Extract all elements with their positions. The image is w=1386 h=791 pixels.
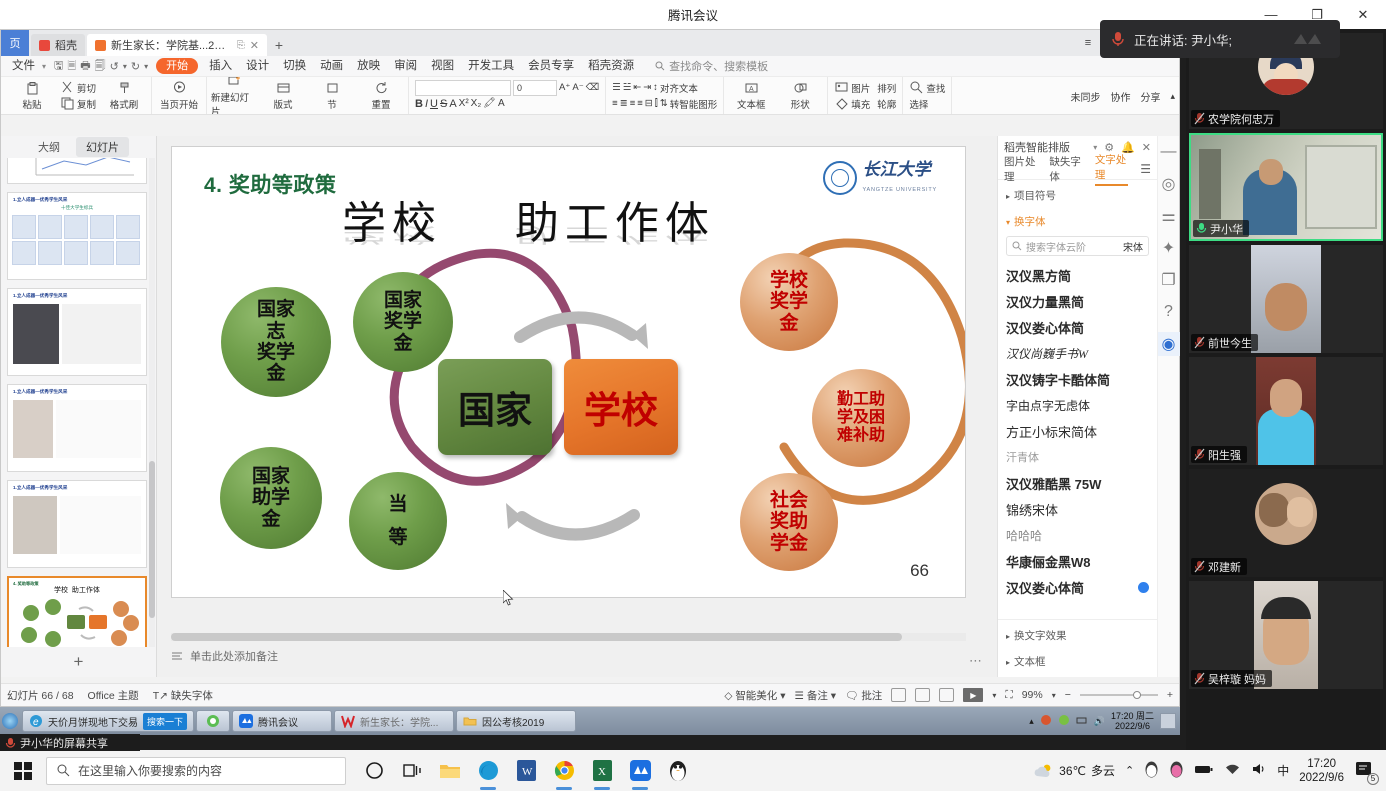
tray-expand-icon[interactable]: ⌃	[1125, 764, 1134, 777]
excel-icon[interactable]: X	[590, 759, 614, 783]
highlight-button[interactable]: 🖍	[483, 98, 496, 109]
quick-access-toolbar: 🖫 🗏 🖶 🗐 ↺ ▾ ↻ ▾	[50, 57, 152, 76]
participant-tile[interactable]: 前世今生	[1189, 245, 1383, 353]
participant-tile-active[interactable]: 尹小华	[1189, 133, 1383, 241]
qq-icon[interactable]	[666, 759, 690, 783]
arrange-label: 排列	[877, 81, 896, 95]
clock[interactable]: 17:20 2022/9/6	[1299, 757, 1344, 785]
node-national-scholarship[interactable]: 国家 奖学 金	[353, 272, 453, 372]
text-direction-button[interactable]: ⇅	[660, 98, 668, 109]
node-line: 难补助	[837, 427, 885, 445]
comments-toggle-button[interactable]: 🗨 批注	[845, 688, 882, 703]
svg-text:A: A	[749, 86, 754, 93]
missing-font-status[interactable]: T↗ 缺失字体	[153, 688, 213, 703]
font-row: 0 A⁺ A⁻ ⌫	[413, 80, 601, 95]
menu-design[interactable]: 设计	[239, 56, 276, 77]
align-center-button[interactable]: ≣	[620, 98, 628, 109]
zoom-slider[interactable]	[1080, 694, 1158, 696]
search-icon	[57, 764, 70, 777]
tab-slides[interactable]: 幻灯片	[76, 137, 129, 157]
slide-canvas[interactable]: 4. 奖助等政策 学校 助工作体 学校 助工作体 长江大学 YANGTZE UN…	[171, 146, 966, 598]
wps-tab-docer[interactable]: 稻壳	[31, 34, 85, 56]
text-effects-button[interactable]: A	[449, 98, 456, 110]
font-search-input[interactable]: 搜索字体云阶 宋体	[1006, 236, 1149, 256]
chrome-icon[interactable]	[552, 759, 576, 783]
reading-view-button[interactable]	[939, 688, 954, 702]
ribbon-right-tools: 未同步 协作 分享 ▴	[1070, 77, 1175, 115]
tencent-meeting-icon	[239, 714, 253, 728]
taskbar-item-label: 新生家长：学院...	[360, 714, 438, 729]
export-icon[interactable]: 🗐	[95, 57, 106, 76]
file-explorer-icon[interactable]	[438, 759, 462, 783]
font-family-input[interactable]	[415, 80, 511, 96]
font-item[interactable]: 汉仪娄心体简	[1006, 314, 1149, 340]
font-warning-icon: T↗	[153, 690, 171, 702]
section-text-effects[interactable]: ▸换文字效果	[998, 620, 1157, 646]
node-line: 学校	[770, 270, 808, 291]
ime-indicator[interactable]: 中	[1277, 762, 1289, 779]
more-options-icon[interactable]: ⋯	[969, 653, 983, 669]
font-search-placeholder: 搜索字体云阶	[1026, 239, 1123, 254]
tab-image-processing[interactable]: 图片处理	[1004, 154, 1037, 184]
menu-view[interactable]: 视图	[424, 56, 461, 77]
inner-clock[interactable]: 17:20 周二 2022/9/6	[1111, 711, 1154, 731]
menu-file[interactable]: 文件	[5, 56, 42, 77]
paste-label: 粘贴	[22, 97, 41, 111]
taskbar-item-wps[interactable]: 新生家长：学院...	[334, 710, 454, 732]
windows-search-placeholder: 在这里输入你要搜索的内容	[78, 762, 222, 779]
wps-tab-label: 稻壳	[55, 37, 77, 53]
reset-icon	[374, 81, 389, 96]
arrange-button[interactable]: 排列	[875, 80, 898, 95]
reset-button[interactable]: 重置	[358, 81, 404, 111]
font-name: 字由点字无虑体	[1006, 397, 1090, 414]
tray-security-icon[interactable]	[1040, 714, 1052, 728]
weather-icon	[1034, 763, 1054, 779]
font-item[interactable]: 汉仪尚巍手书W	[1006, 340, 1149, 366]
start-button[interactable]	[0, 750, 46, 791]
font-name: 汉仪黑方简	[1006, 266, 1071, 285]
font-item[interactable]: 汉仪娄心体简	[1006, 574, 1149, 600]
select-label: 选择	[909, 97, 928, 111]
outline-label: 轮廓	[877, 97, 896, 111]
share-banner-label: 尹小华的屏幕共享	[20, 735, 108, 751]
decrease-indent-button[interactable]: ⇤	[633, 82, 641, 93]
ribbon-group-slides: 新建幻灯片 版式 节 重置	[207, 77, 409, 115]
menu-slideshow[interactable]: 放映	[350, 56, 387, 77]
normal-view-button[interactable]	[891, 688, 906, 702]
slide-thumbnail-selected[interactable]: 4. 奖助等政策 学校 助工作体	[7, 576, 147, 647]
slide-thumbnail-panel: 大纲 幻灯片 1.立人成器—优秀学生风采 十佳大学生标兵	[1, 136, 157, 677]
line-spacing-button[interactable]: ↕	[653, 82, 658, 93]
section-label: 项目符号	[1014, 190, 1056, 202]
paste-button[interactable]: 粘贴	[9, 81, 55, 111]
font-item[interactable]: 汉仪力量黑简	[1006, 288, 1149, 314]
font-item[interactable]: 汉仪铸字卡酷体简	[1006, 366, 1149, 392]
align-left-button[interactable]: ≡	[612, 98, 618, 109]
windows-search-box[interactable]: 在这里输入你要搜索的内容	[46, 757, 346, 785]
node-social-scholarship[interactable]: 社会 奖助 学金	[740, 473, 838, 571]
cloud-sync-button[interactable]: 未同步	[1070, 89, 1100, 104]
thumb-title: 1.立人成器—优秀学生风采	[8, 481, 146, 491]
qq-tray-icon[interactable]	[1144, 761, 1159, 781]
undo-icon[interactable]: ↺	[110, 60, 119, 73]
bullet-list-button[interactable]: ☰	[612, 82, 621, 93]
save-icon[interactable]: 🖫	[54, 57, 63, 76]
node-line: 学金	[770, 533, 808, 554]
fit-to-window-icon[interactable]: ⛶	[1005, 689, 1012, 702]
folder-icon	[463, 714, 477, 728]
participant-video-rail: 农学院何忠万 尹小华 前世今生	[1186, 29, 1386, 750]
help-icon[interactable]: ?	[1158, 300, 1180, 324]
weather-widget[interactable]: 36℃ 多云	[1034, 762, 1115, 779]
slide-thumbnail[interactable]: 1.立人成器—优秀学生风采	[7, 288, 147, 376]
participant-tile[interactable]: 邓建新	[1189, 469, 1383, 577]
outline-button[interactable]: 轮廓	[875, 96, 898, 111]
clear-format-icon[interactable]: ⌫	[586, 82, 599, 93]
wps-home-button[interactable]: 页	[1, 30, 29, 56]
increase-font-icon[interactable]: A⁺	[559, 82, 570, 93]
font-item[interactable]: 哈哈哈	[1006, 522, 1149, 548]
section-text-box[interactable]: ▸文本框	[998, 646, 1157, 677]
wifi-icon[interactable]	[1224, 763, 1241, 779]
format-painter-button[interactable]: 格式刷	[101, 81, 147, 111]
underline-button[interactable]: U	[430, 98, 438, 110]
docer-panel-icon[interactable]: ◉	[1158, 332, 1180, 356]
align-right-button[interactable]: ≡	[630, 98, 636, 109]
search-icon	[1012, 241, 1022, 251]
taskbar-item-label: 腾讯会议	[258, 714, 298, 729]
battery-icon[interactable]	[1194, 763, 1214, 778]
menu-review[interactable]: 审阅	[387, 56, 424, 77]
node-line: 金	[266, 363, 285, 384]
taskbar-item-tencent-meeting[interactable]: 腾讯会议	[232, 710, 332, 732]
collaborate-button[interactable]: 协作	[1110, 89, 1130, 104]
section-label: 节	[327, 97, 337, 111]
layout-label: 版式	[274, 97, 293, 111]
fill-button[interactable]: 填充	[832, 96, 872, 111]
node-line: 当	[388, 494, 407, 515]
clock-time: 17:20	[1307, 758, 1336, 770]
wps-body: 大纲 幻灯片 1.立人成器—优秀学生风采 十佳大学生标兵	[1, 136, 1179, 677]
italic-button[interactable]: I	[425, 98, 428, 110]
wps-settings-icon[interactable]: ≡	[1075, 30, 1101, 56]
tab-missing-fonts[interactable]: 缺失字体	[1049, 154, 1082, 184]
menu-member[interactable]: 会员专享	[521, 56, 581, 77]
new-slide-icon	[227, 77, 242, 89]
font-name: 汉仪娄心体简	[1006, 578, 1084, 597]
menu-transition[interactable]: 切换	[276, 56, 313, 77]
font-item[interactable]: 华康俪金黑W8	[1006, 548, 1149, 574]
increase-indent-button[interactable]: ⇥	[643, 82, 651, 93]
reset-label: 重置	[372, 97, 391, 111]
picture-icon	[834, 80, 849, 95]
node-school-scholarship[interactable]: 学校 奖学 金	[740, 253, 838, 351]
font-name: 哈哈哈	[1006, 527, 1042, 544]
speaking-label: 正在讲话: 尹小华;	[1134, 30, 1292, 49]
adjust-icon[interactable]: ⚌	[1158, 204, 1180, 228]
wps-ribbon: 粘贴 剪切 复制 格式刷	[1, 77, 1179, 115]
zoom-out-button[interactable]: −	[1065, 689, 1071, 701]
slide-thumbnail[interactable]	[7, 158, 147, 184]
collapse-rail-icon[interactable]: —	[1158, 140, 1180, 164]
participant-name: 农学院何忠万	[1208, 111, 1274, 127]
tray-network-icon[interactable]	[1076, 714, 1088, 728]
clock-date: 2022/9/6	[1299, 772, 1344, 784]
command-search-label: 查找命令、搜索模板	[669, 58, 768, 74]
select-button[interactable]: 选择	[907, 96, 947, 111]
node-line: 学及困	[837, 409, 885, 427]
cut-button[interactable]: 剪切	[58, 80, 98, 95]
edge-icon[interactable]	[476, 759, 500, 783]
node-national-grant[interactable]: 国家 助学 金	[220, 447, 322, 549]
play-dropdown-icon[interactable]: ▾	[992, 691, 996, 700]
menu-animation[interactable]: 动画	[313, 56, 350, 77]
decrease-font-icon[interactable]: A⁻	[572, 82, 583, 93]
superscript-button[interactable]: X²	[459, 98, 469, 109]
participant-name: 邓建新	[1208, 559, 1241, 575]
wps-menu-bar: 文件 ▾ 🖫 🗏 🖶 🗐 ↺ ▾ ↻ ▾ 开始 插入 设计 切换 动画 放映 审…	[1, 56, 1179, 77]
system-tray: 36℃ 多云 ⌃ 中 17:20 2022/9/6 5	[1034, 757, 1386, 785]
qq-pink-tray-icon[interactable]	[1169, 761, 1184, 781]
paste-icon	[25, 81, 40, 96]
menu-home[interactable]: 开始	[156, 58, 198, 74]
slide-counter: 幻灯片 66 / 68	[7, 688, 74, 703]
ribbon-group-slideshow: 当页开始	[152, 77, 207, 115]
mic-muted-icon	[1194, 448, 1205, 461]
slide-horizontal-scrollbar[interactable]	[171, 633, 966, 641]
wps-tab-label: 新生家长：学院基...20220905	[111, 37, 231, 53]
presentation-icon	[95, 40, 106, 51]
cut-label: 剪切	[77, 81, 96, 95]
menu-developer[interactable]: 开发工具	[461, 56, 521, 77]
justify-button[interactable]: ≡	[637, 98, 643, 109]
participant-tile[interactable]: 阳生强	[1189, 357, 1383, 465]
thumb-title: 1.立人成器—优秀学生风采	[8, 385, 146, 395]
close-panel-icon[interactable]: ✕	[1142, 141, 1151, 154]
bold-button[interactable]: B	[415, 98, 423, 110]
slide-thumbnail[interactable]: 1.立人成器—优秀学生风采 十佳大学生标兵	[7, 192, 147, 280]
font-item[interactable]: 锦绣宋体	[1006, 496, 1149, 522]
center-box-national[interactable]: 国家	[438, 359, 552, 455]
magic-icon[interactable]: ✦	[1158, 236, 1180, 260]
notes-icon	[171, 651, 184, 662]
docer-panel-tabs: 图片处理 缺失字体 文字处理 ☰	[998, 158, 1157, 180]
add-slide-button[interactable]: +	[1, 647, 156, 677]
participant-name-badge: 邓建新	[1191, 558, 1247, 575]
center-box-school[interactable]: 学校	[564, 359, 678, 455]
section-bullets[interactable]: ▸项目符号	[998, 180, 1157, 206]
word-icon[interactable]: W	[514, 759, 538, 783]
tray-volume-icon[interactable]: 🔊	[1094, 716, 1105, 727]
section-change-font[interactable]: ▾换字体	[998, 206, 1157, 232]
ribbon-group-font: 0 A⁺ A⁻ ⌫ B I U S A X² X₂ 🖍 A	[409, 77, 606, 115]
pin-icon[interactable]: ⎘	[237, 40, 245, 51]
node-national-aspiration-scholarship[interactable]: 国家 志 奖学 金	[221, 287, 331, 397]
slide-thumbnail-list[interactable]: 1.立人成器—优秀学生风采 十佳大学生标兵	[1, 158, 156, 647]
tencent-meeting-icon[interactable]	[628, 759, 652, 783]
distribute-button[interactable]: ⊟	[645, 98, 653, 109]
play-circle-icon	[172, 81, 187, 96]
font-color-button[interactable]: A	[498, 98, 505, 109]
section-button[interactable]: 节	[309, 81, 355, 111]
node-work-study-aid[interactable]: 勤工助 学及困 难补助	[812, 369, 910, 467]
right-icon-rail: — ◎ ⚌ ✦ ❐ ? ◉	[1157, 136, 1179, 677]
current-font-value: 宋体	[1123, 239, 1143, 254]
shape-icon	[793, 81, 808, 96]
slide-thumbnail[interactable]: 1.立人成器—优秀学生风采	[7, 384, 147, 472]
menu-docer[interactable]: 稻壳资源	[581, 56, 641, 77]
picture-label: 图片	[851, 81, 870, 95]
wps-icon	[341, 714, 355, 728]
node-etc[interactable]: 当 等	[349, 472, 447, 570]
taskbar-icons: W X	[362, 759, 690, 783]
new-slide-button[interactable]: 新建幻灯片	[211, 77, 257, 115]
duplicate-icon[interactable]: ❐	[1158, 268, 1180, 292]
theme-name[interactable]: Office 主题	[88, 688, 139, 703]
start-orb-icon[interactable]	[2, 713, 18, 729]
menu-insert[interactable]: 插入	[202, 56, 239, 77]
copy-button[interactable]: 复制	[58, 96, 98, 111]
font-size-input[interactable]: 0	[513, 80, 557, 96]
command-search[interactable]: 查找命令、搜索模板	[655, 58, 768, 74]
node-line: 等	[388, 527, 407, 548]
font-name: 汉仪力量黑简	[1006, 292, 1084, 311]
columns-button[interactable]: ⫿	[655, 98, 658, 109]
picture-button[interactable]: 图片	[832, 80, 872, 95]
font-name: 汉仪铸字卡酷体简	[1006, 370, 1110, 389]
speaking-indicator: 正在讲话: 尹小华;	[1100, 20, 1340, 58]
zoom-dropdown-icon[interactable]: ▾	[1052, 691, 1056, 700]
node-line: 奖助	[770, 511, 808, 532]
font-item[interactable]: 字由点字无虑体	[1006, 392, 1149, 418]
font-name: 汉仪娄心体简	[1006, 318, 1084, 337]
notes-area[interactable]: 单击此处添加备注	[171, 645, 966, 667]
participant-name-badge: 前世今生	[1191, 334, 1258, 351]
weather-temp: 36℃	[1059, 764, 1086, 778]
thumb-title: 1.立人成器—优秀学生风采	[8, 289, 146, 299]
slide-edit-area: 4. 奖助等政策 学校 助工作体 学校 助工作体 长江大学 YANGTZE UN…	[157, 136, 997, 677]
mic-muted-icon	[1194, 336, 1205, 349]
slide-thumbnail[interactable]: 1.立人成器—优秀学生风采	[7, 480, 147, 568]
tray-update-icon[interactable]	[1058, 714, 1070, 728]
screen: 腾讯会议 — ❐ ✕ 正在讲话: 尹小华; 页 稻壳	[0, 0, 1386, 791]
slideshow-play-button[interactable]: ▶	[963, 688, 983, 702]
thumbnail-scrollbar[interactable]	[149, 158, 155, 647]
close-tab-icon[interactable]: ✕	[250, 39, 259, 52]
participant-name-badge: 尹小华	[1193, 220, 1249, 237]
inner-app-taskbar: e 天价月饼现地下交易 搜索一下 腾讯会议 新生家长：学院... 因公考核201…	[0, 707, 1180, 735]
fill-icon	[834, 96, 849, 111]
clock-date: 2022/9/6	[1115, 721, 1150, 731]
numbered-list-button[interactable]: ☱	[623, 82, 632, 93]
print-icon[interactable]: 🖶	[80, 57, 90, 76]
design-ideas-icon[interactable]: ◎	[1158, 172, 1180, 196]
ribbon-group-drawing: A 文本框 形状	[724, 77, 828, 115]
font-item[interactable]: 汉仪雅酷黑 75W	[1006, 470, 1149, 496]
thumb-title: 1.立人成器—优秀学生风采	[8, 193, 146, 203]
start-from-current-button[interactable]: 当页开始	[156, 81, 202, 111]
node-line: 勤工助	[837, 391, 885, 409]
shape-button[interactable]: 形状	[777, 81, 823, 111]
format-painter-label: 格式刷	[110, 97, 139, 111]
ribbon-group-paragraph: ☰ ☱ ⇤ ⇥ ↕ 对齐文本 ≡ ≣ ≡ ≡ ⊟ ⫿ ⇅	[606, 77, 724, 115]
svg-text:e: e	[33, 717, 39, 728]
panel-menu-icon[interactable]: ☰	[1140, 162, 1151, 176]
convert-smartart-button[interactable]: 转智能图形	[670, 97, 718, 111]
screen-share-banner: 尹小华的屏幕共享	[0, 734, 140, 751]
taskbar-search-badge[interactable]: 搜索一下	[143, 713, 187, 730]
smart-beautify-button[interactable]: ◇ 智能美化 ▾	[724, 688, 785, 703]
show-desktop-button[interactable]	[1160, 713, 1176, 729]
share-mic-icon	[5, 737, 16, 749]
taskbar-item-browser[interactable]	[196, 710, 230, 732]
zoom-value[interactable]: 99%	[1022, 689, 1043, 701]
weather-desc: 多云	[1091, 762, 1115, 779]
section-label: 换字体	[1014, 216, 1046, 228]
font-list[interactable]: 汉仪黑方简 汉仪力量黑简 汉仪娄心体简 汉仪尚巍手书W 汉仪铸字卡酷体简 字由点…	[998, 262, 1157, 619]
taskbar-item-folder[interactable]: 因公考核2019	[456, 710, 576, 732]
svg-text:W: W	[522, 766, 533, 778]
taskbar-item-label: 天价月饼现地下交易	[48, 714, 138, 729]
task-view-icon[interactable]	[400, 759, 424, 783]
copy-label: 复制	[77, 97, 96, 111]
slide-sorter-view-button[interactable]	[915, 688, 930, 702]
cortana-icon[interactable]	[362, 759, 386, 783]
notification-center-button[interactable]: 5	[1354, 760, 1376, 782]
print-preview-icon[interactable]: 🗏	[67, 57, 76, 76]
undo-dropdown-icon[interactable]: ▾	[123, 62, 127, 71]
taskbar-item-ie[interactable]: e 天价月饼现地下交易 搜索一下	[22, 710, 194, 732]
meeting-close-button[interactable]: ✕	[1340, 0, 1386, 29]
font-item[interactable]: 方正小标宋简体	[1006, 418, 1149, 444]
participant-name-badge: 农学院何忠万	[1191, 110, 1280, 127]
align-text-button[interactable]: 对齐文本	[660, 81, 698, 95]
notes-toggle-button[interactable]: ☰ 备注 ▾	[795, 688, 837, 703]
tab-outline[interactable]: 大纲	[28, 137, 70, 157]
layout-button[interactable]: 版式	[260, 81, 306, 111]
font-item[interactable]: 汉仪黑方简	[1006, 262, 1149, 288]
windows-taskbar: 在这里输入你要搜索的内容 W X 36℃ 多云 ⌃ 中	[0, 750, 1386, 791]
redo-dropdown-icon[interactable]: ▾	[144, 62, 148, 71]
strikethrough-button[interactable]: S	[440, 98, 447, 110]
find-button[interactable]: 查找	[907, 80, 947, 95]
ribbon-collapse-icon[interactable]: ▴	[1170, 91, 1175, 102]
participant-name: 前世今生	[1208, 335, 1252, 351]
section-icon	[325, 81, 340, 96]
node-line: 助学	[252, 487, 290, 508]
mouse-cursor	[503, 590, 514, 606]
font-item[interactable]: 汗青体	[1006, 444, 1149, 470]
subscript-button[interactable]: X₂	[471, 98, 482, 109]
share-button[interactable]: 分享	[1140, 89, 1160, 104]
participant-tile[interactable]: 吴梓璇 妈妈	[1189, 581, 1383, 689]
zoom-in-button[interactable]: +	[1167, 689, 1173, 701]
redo-icon[interactable]: ↻	[131, 60, 140, 73]
font-name: 华康俪金黑W8	[1006, 552, 1091, 571]
wps-tab-presentation[interactable]: 新生家长：学院基...20220905 ⎘ ✕	[87, 34, 267, 56]
volume-icon[interactable]	[1251, 762, 1267, 779]
docer-panel-bottom: ▸换文字效果 ▸文本框	[998, 619, 1157, 677]
font-name: 锦绣宋体	[1006, 500, 1058, 519]
new-tab-button[interactable]: +	[267, 34, 291, 56]
node-line: 国家	[257, 299, 295, 320]
text-box-button[interactable]: A 文本框	[728, 81, 774, 111]
mic-muted-icon	[1194, 560, 1205, 573]
mic-muted-icon	[1194, 672, 1205, 685]
font-name: 汉仪雅酷黑 75W	[1006, 474, 1101, 493]
font-name: 汉仪尚巍手书W	[1006, 345, 1088, 362]
